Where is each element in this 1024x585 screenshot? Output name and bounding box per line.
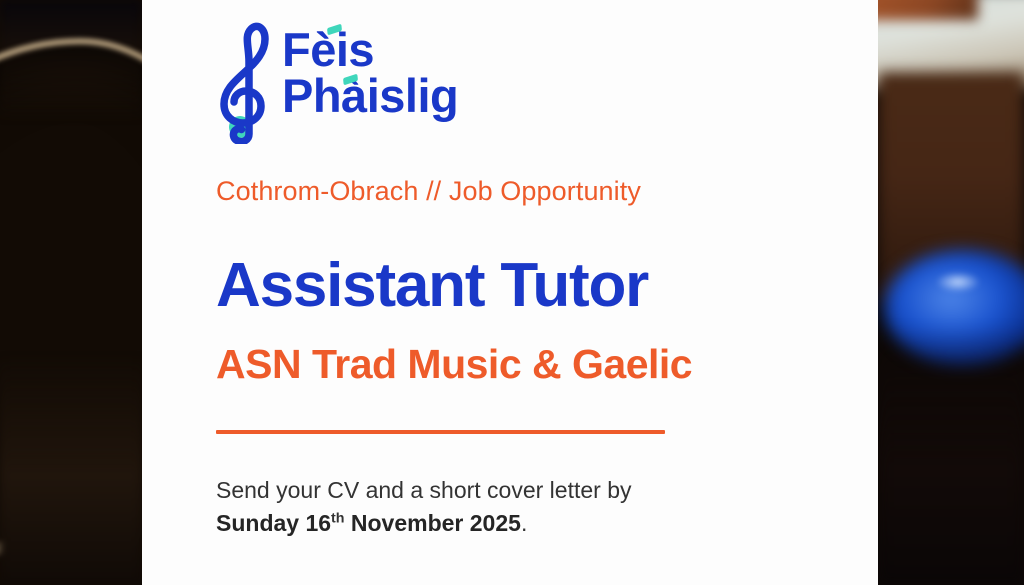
application-instructions: Send your CV and a short cover letter by… — [216, 474, 632, 539]
job-opportunity-poster: Fèis Phàislig Cothrom-Obrach // Job Oppo… — [0, 0, 1024, 585]
instructions-line-1: Send your CV and a short cover letter by — [216, 474, 632, 507]
interior-shadow-bottom — [878, 325, 1024, 585]
interior-blue-highlight — [936, 272, 980, 292]
role-subtitle: ASN Trad Music & Gaelic — [216, 344, 692, 385]
page-title: Assistant Tutor — [216, 255, 648, 317]
interior-wood-accent — [878, 0, 978, 20]
logo-line-feis: Fèis — [282, 28, 458, 72]
logo-wordmark: Fèis Phàislig — [282, 28, 458, 118]
eyebrow-job-opportunity: Cothrom-Obrach // Job Opportunity — [216, 176, 641, 207]
background-photo-left-guitar — [0, 0, 142, 585]
deadline-period: . — [521, 510, 527, 536]
deadline-month-year: November 2025 — [345, 510, 521, 536]
logo-line-phaislig: Phàislig — [282, 74, 458, 118]
treble-clef-icon — [216, 22, 278, 144]
deadline-day: Sunday 16 — [216, 510, 331, 536]
orange-divider-rule — [216, 430, 665, 434]
instructions-line-2: Sunday 16th November 2025. — [216, 507, 632, 540]
guitar-shadow-bottom — [0, 355, 142, 585]
background-photo-right-interior — [878, 0, 1024, 585]
deadline-ordinal-suffix: th — [331, 510, 344, 526]
feis-phaislig-logo: Fèis Phàislig — [216, 22, 458, 144]
